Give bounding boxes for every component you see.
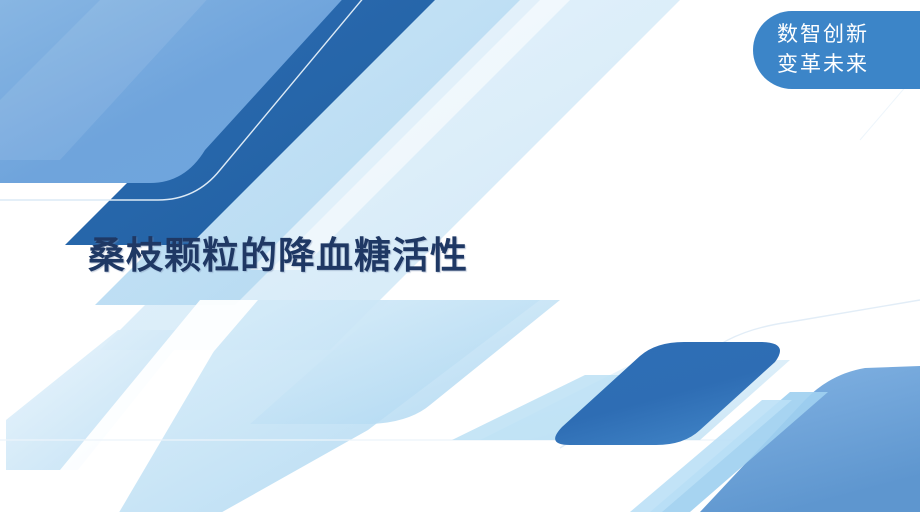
bottom-right-triangle xyxy=(700,366,920,512)
bottom-echo-line xyxy=(560,300,920,448)
corner-slogan-badge: 数智创新 变革未来 xyxy=(753,11,920,89)
badge-line-2: 变革未来 xyxy=(777,50,908,80)
top-left-rounded-parallelogram-block xyxy=(0,0,360,183)
slide-canvas: 数智创新 变革未来 桑枝颗粒的降血糖活性 xyxy=(0,0,920,518)
footer-strip xyxy=(0,512,920,518)
bottom-right-light-wedge xyxy=(452,360,790,440)
page-title: 桑枝颗粒的降血糖活性 xyxy=(88,233,468,279)
top-diagonal-stripe-band xyxy=(65,0,700,350)
bottom-left-diagonal-stripes xyxy=(6,300,560,518)
top-block-echo-line xyxy=(0,0,370,200)
bottom-center-rounded-parallelogram xyxy=(555,342,780,445)
bottom-right-pale-sliver xyxy=(630,392,828,512)
badge-line-1: 数智创新 xyxy=(777,20,908,50)
